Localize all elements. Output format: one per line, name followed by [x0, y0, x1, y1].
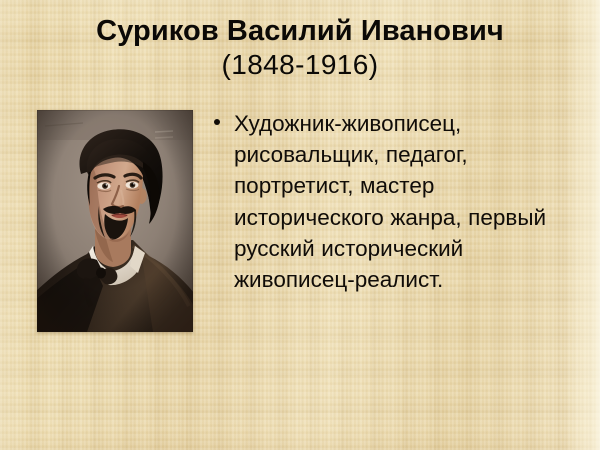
presentation-slide: Суриков Василий Иванович (1848-1916) — [0, 0, 600, 450]
slide-title: Суриков Василий Иванович (1848-1916) — [0, 14, 600, 82]
list-item: Художник-живописец, рисовальщик, педагог… — [208, 108, 580, 295]
list-item-text: Художник-живописец, рисовальщик, педагог… — [234, 111, 546, 292]
title-dates-line: (1848-1916) — [0, 48, 600, 82]
portrait-image — [37, 110, 193, 332]
title-name-line: Суриков Василий Иванович — [0, 14, 600, 48]
bullet-list: Художник-живописец, рисовальщик, педагог… — [208, 108, 580, 295]
bullet-dot-icon — [214, 119, 220, 125]
